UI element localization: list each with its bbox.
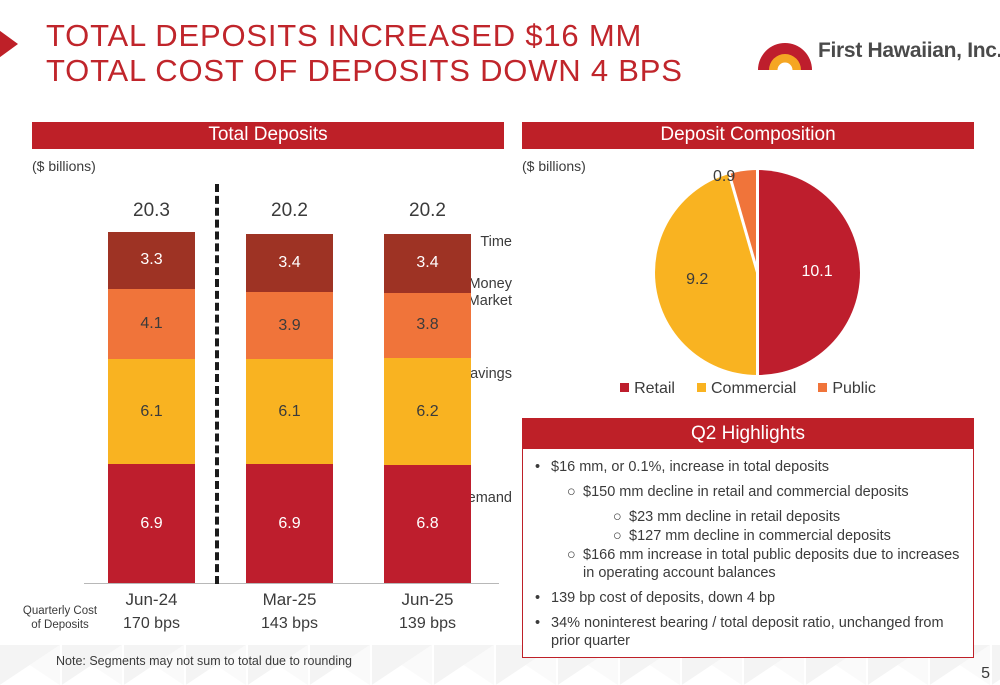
x-axis-label-Jun-24: Jun-24 (97, 590, 207, 610)
highlight-bullet-icon: ○ (613, 527, 629, 545)
bar-segment-money-market: 3.9 (246, 292, 333, 359)
bar-segment-value: 6.1 (108, 403, 195, 421)
bar-segment-time: 3.4 (384, 234, 471, 293)
highlight-bullet-icon: • (535, 614, 551, 650)
highlight-bullet-icon: ○ (567, 483, 583, 501)
page-title-line-2: TOTAL COST OF DEPOSITS DOWN 4 BPS (46, 53, 746, 88)
cost-of-deposits-Jun-24: 170 bps (97, 615, 207, 633)
highlight-item: ○$127 mm decline in commercial deposits (529, 527, 963, 545)
bar-total-Jun-25: 20.2 (373, 200, 483, 222)
highlight-item: •$16 mm, or 0.1%, increase in total depo… (529, 458, 963, 476)
bar-segment-value: 6.9 (108, 515, 195, 533)
bar-segment-money-market: 3.8 (384, 293, 471, 359)
watermark-chevron (992, 645, 1000, 685)
legend-item-retail: Retail (620, 380, 675, 398)
q2-highlights-panel: •$16 mm, or 0.1%, increase in total depo… (522, 418, 974, 658)
units-label-left: ($ billions) (32, 158, 96, 174)
bar-total-Jun-24: 20.3 (97, 200, 207, 222)
bar-segment-value: 4.1 (108, 315, 195, 333)
legend-label: Public (832, 380, 876, 397)
panel-header-q2-highlights: Q2 Highlights (522, 418, 974, 449)
highlight-item: ○$150 mm decline in retail and commercia… (529, 483, 963, 501)
highlight-item: •139 bp cost of deposits, down 4 bp (529, 589, 963, 607)
panel-header-total-deposits: Total Deposits (32, 122, 504, 149)
legend-item-public: Public (818, 380, 876, 398)
page-title: TOTAL DEPOSITS INCREASED $16 MM TOTAL CO… (46, 18, 746, 88)
chart-axis-line (84, 583, 499, 584)
pie-value-retail: 10.1 (802, 263, 833, 281)
logo-text: First Hawaiian, Inc. (818, 39, 1000, 63)
bar-segment-value: 6.8 (384, 515, 471, 533)
bar-segment-money-market: 4.1 (108, 289, 195, 360)
rainbow-arc-icon (756, 30, 814, 72)
bar-segment-value: 3.4 (246, 254, 333, 272)
bar-segment-savings: 6.1 (246, 359, 333, 464)
highlight-item: ○$23 mm decline in retail deposits (529, 508, 963, 526)
company-logo: First Hawaiian, Inc. (756, 30, 986, 74)
pie-value-commercial: 9.2 (686, 271, 708, 289)
highlight-bullet-icon: • (535, 458, 551, 476)
highlight-text: $150 mm decline in retail and commercial… (583, 483, 963, 501)
slide: TOTAL DEPOSITS INCREASED $16 MM TOTAL CO… (0, 0, 1000, 685)
chart-note: Note: Segments may not sum to total due … (56, 654, 352, 668)
bar-segment-value: 6.9 (246, 515, 333, 533)
q2-highlights-list: •$16 mm, or 0.1%, increase in total depo… (523, 450, 973, 657)
page-number: 5 (981, 665, 990, 683)
title-arrow-icon (0, 28, 18, 60)
legend-swatch-commercial (697, 383, 706, 392)
bar-segment-value: 6.1 (246, 403, 333, 421)
bar-total-Mar-25: 20.2 (235, 200, 345, 222)
bar-segment-time: 3.3 (108, 232, 195, 289)
highlight-item: •34% noninterest bearing / total deposit… (529, 614, 963, 650)
pie-gap-commercial-public (756, 273, 759, 376)
bar-segment-value: 3.4 (384, 254, 471, 272)
bar-segment-value: 3.3 (108, 251, 195, 269)
highlight-text: 139 bp cost of deposits, down 4 bp (551, 589, 963, 607)
pie-gap-retail-commercial (756, 170, 759, 273)
highlight-bullet-icon: ○ (567, 546, 583, 582)
cost-of-deposits-Jun-25: 139 bps (373, 615, 483, 633)
pie-legend: RetailCommercialPublic (522, 380, 974, 398)
panel-header-deposit-composition: Deposit Composition (522, 122, 974, 149)
units-label-right: ($ billions) (522, 158, 586, 174)
bar-segment-time: 3.4 (246, 234, 333, 292)
bar-segment-value: 6.2 (384, 403, 471, 421)
period-divider (215, 184, 219, 584)
deposit-composition-pie-chart: 10.19.20.9 (655, 170, 860, 375)
cost-of-deposits-Mar-25: 143 bps (235, 615, 345, 633)
quarterly-cost-label-line-2: of Deposits (31, 619, 89, 631)
watermark-chevron (0, 645, 60, 685)
bar-segment-demand: 6.8 (384, 465, 471, 583)
highlight-bullet-icon: ○ (613, 508, 629, 526)
legend-swatch-public (818, 383, 827, 392)
quarterly-cost-label-line-1: Quarterly Cost (23, 605, 97, 617)
bar-segment-value: 3.8 (384, 316, 471, 334)
watermark-chevron (434, 645, 494, 685)
bar-segment-savings: 6.2 (384, 358, 471, 465)
quarterly-cost-label: Quarterly Cost of Deposits (18, 604, 102, 632)
x-axis-label-Mar-25: Mar-25 (235, 590, 345, 610)
highlight-item: ○$166 mm increase in total public deposi… (529, 546, 963, 582)
legend-label: Commercial (711, 380, 796, 397)
highlight-text: $166 mm increase in total public deposit… (583, 546, 963, 582)
x-axis-label-Jun-25: Jun-25 (373, 590, 483, 610)
bar-segment-savings: 6.1 (108, 359, 195, 464)
highlight-bullet-icon: • (535, 589, 551, 607)
highlight-text: 34% noninterest bearing / total deposit … (551, 614, 963, 650)
page-title-line-1: TOTAL DEPOSITS INCREASED $16 MM (46, 18, 746, 53)
highlight-text: $127 mm decline in commercial deposits (629, 527, 963, 545)
watermark-chevron (372, 645, 432, 685)
bar-segment-demand: 6.9 (246, 464, 333, 583)
legend-item-commercial: Commercial (697, 380, 796, 398)
pie-value-public: 0.9 (713, 168, 735, 186)
legend-label: Retail (634, 380, 675, 397)
highlight-text: $16 mm, or 0.1%, increase in total depos… (551, 458, 963, 476)
bar-segment-demand: 6.9 (108, 464, 195, 583)
total-deposits-bar-chart: TimeMoneyMarketSavingsDemand20.33.34.16.… (0, 180, 512, 600)
legend-swatch-retail (620, 383, 629, 392)
bar-segment-value: 3.9 (246, 317, 333, 335)
highlight-text: $23 mm decline in retail deposits (629, 508, 963, 526)
